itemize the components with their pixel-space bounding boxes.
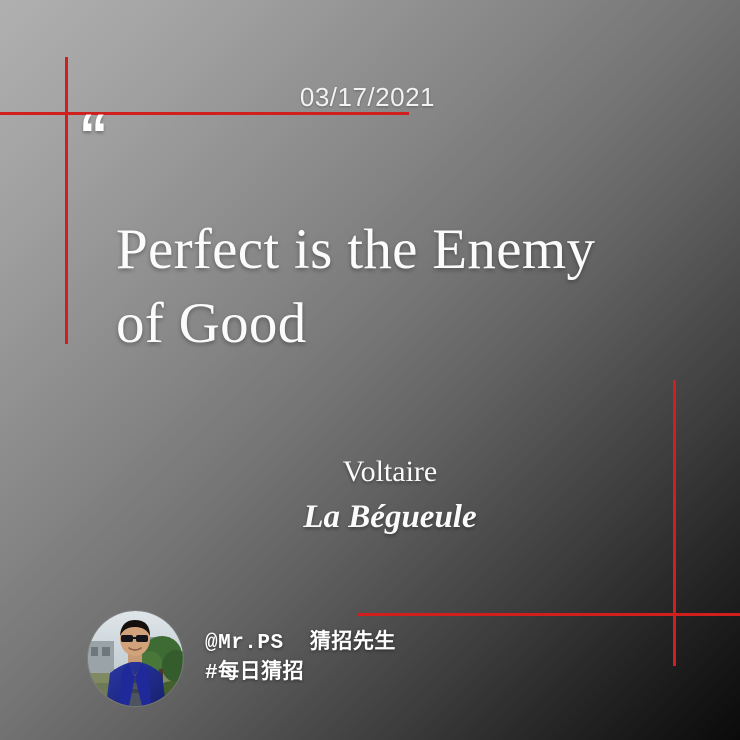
avatar bbox=[88, 611, 183, 706]
attribution: Voltaire La Bégueule bbox=[140, 452, 640, 542]
handle-hashtag: #每日猜招 bbox=[205, 659, 396, 689]
signature-block: @Mr.PS 猜招先生 #每日猜招 bbox=[88, 611, 396, 706]
attribution-author: Voltaire bbox=[140, 452, 640, 492]
date-label: 03/17/2021 bbox=[0, 82, 435, 113]
quote-text: Perfect is the Enemy of Good bbox=[116, 213, 676, 361]
red-rule-bottom-horizontal bbox=[357, 613, 740, 616]
handle-block: @Mr.PS 猜招先生 #每日猜招 bbox=[205, 629, 396, 689]
quotation-mark-icon: “ bbox=[79, 107, 106, 165]
quote-card: 03/17/2021 “ Perfect is the Enemy of Goo… bbox=[0, 0, 740, 740]
handle-name: @Mr.PS 猜招先生 bbox=[205, 629, 396, 659]
attribution-work-title: La Bégueule bbox=[140, 492, 640, 542]
red-rule-right-vertical bbox=[673, 380, 676, 666]
